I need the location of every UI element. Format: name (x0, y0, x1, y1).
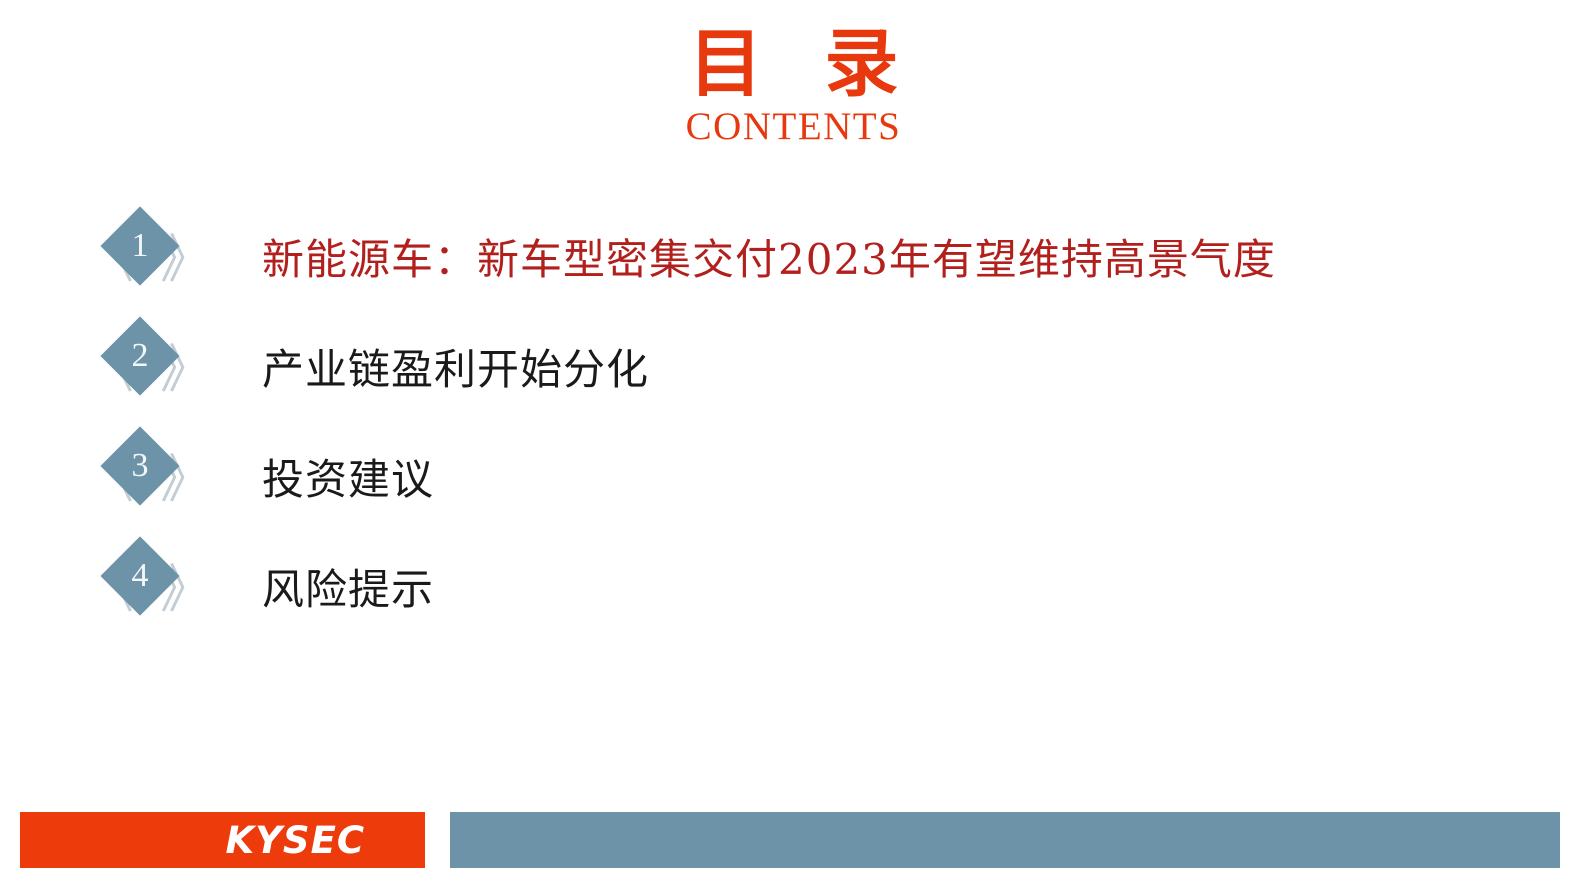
contents-marker-1: 《 》 1 (90, 205, 212, 315)
contents-item-number: 4 (112, 548, 168, 604)
brand-logo: KYSEC (20, 812, 425, 868)
contents-item-1[interactable]: 《 》 1 新能源车：新车型密集交付2023年有望维持高景气度 (0, 205, 1587, 315)
contents-item-label[interactable]: 产业链盈利开始分化 (262, 345, 649, 395)
slide-canvas: 目 录 CONTENTS 《 》 1 新能源车：新车型密集交付2023年有望维持… (0, 0, 1587, 892)
contents-item-number: 1 (112, 218, 168, 274)
contents-list: 《 》 1 新能源车：新车型密集交付2023年有望维持高景气度 《 》 2 产业… (0, 205, 1587, 645)
page-title: 目 录 (0, 22, 1587, 106)
contents-item-label[interactable]: 新能源车：新车型密集交付2023年有望维持高景气度 (262, 235, 1276, 285)
contents-marker-3: 《 》 3 (90, 425, 212, 535)
contents-marker-4: 《 》 4 (90, 535, 212, 645)
footer-accent-bar (450, 812, 1560, 868)
page-subtitle: CONTENTS (0, 106, 1587, 148)
contents-item-number: 2 (112, 328, 168, 384)
brand-logo-text: KYSEC (225, 819, 425, 862)
contents-item-2[interactable]: 《 》 2 产业链盈利开始分化 (0, 315, 1587, 425)
slide-footer: KYSEC (0, 812, 1587, 870)
contents-item-3[interactable]: 《 》 3 投资建议 (0, 425, 1587, 535)
slide-title-block: 目 录 CONTENTS (0, 22, 1587, 148)
contents-item-label[interactable]: 投资建议 (262, 455, 434, 505)
contents-marker-2: 《 》 2 (90, 315, 212, 425)
contents-item-number: 3 (112, 438, 168, 494)
contents-item-4[interactable]: 《 》 4 风险提示 (0, 535, 1587, 645)
contents-item-label[interactable]: 风险提示 (262, 565, 434, 615)
